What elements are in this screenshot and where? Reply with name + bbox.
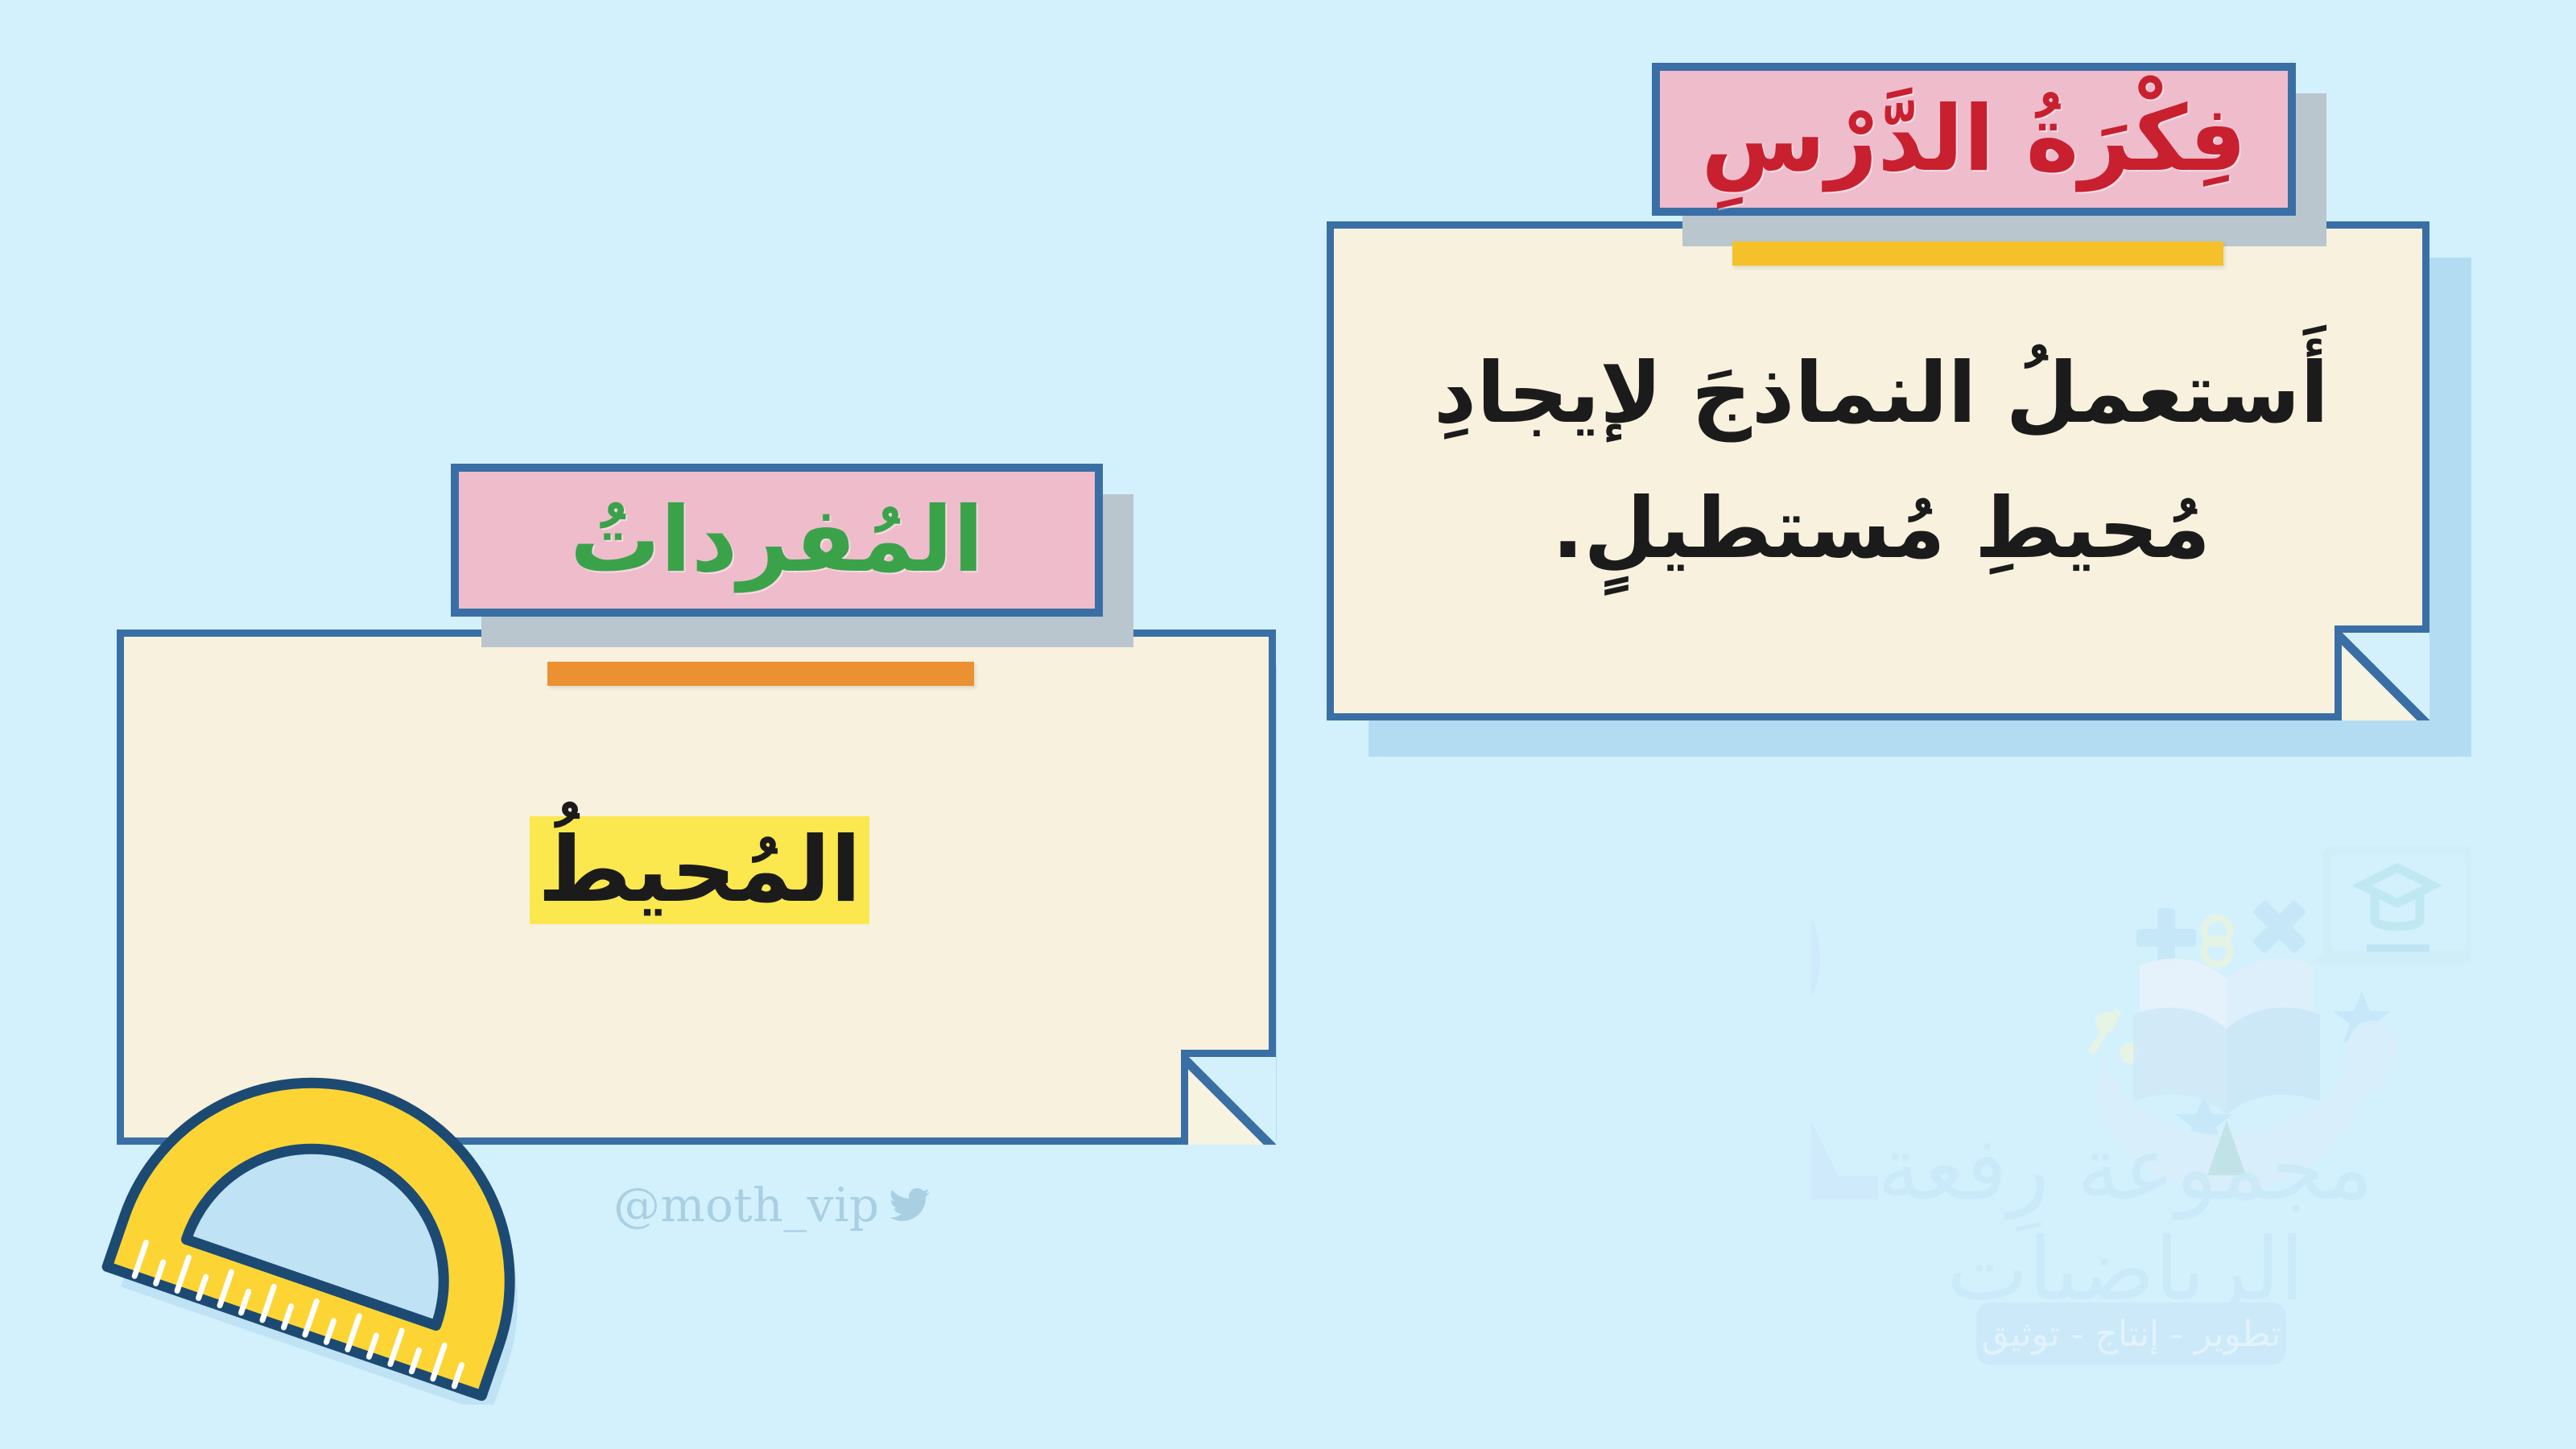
vocabulary-banner-label: المُفرداتُ (570, 495, 984, 585)
credit-handle-text: @moth_vip (613, 1178, 880, 1232)
times-icon (2237, 885, 2322, 969)
pencil-icon (2207, 1121, 2246, 1175)
lesson-idea-body: أَستعملُ النماذجَ لإيجادِ مُحيطِ مُستطيل… (1366, 325, 2396, 597)
credit-handle: @moth_vip (613, 1178, 931, 1232)
watermark-logo: R (1811, 773, 2471, 1336)
watermark-monogram-letter: R (1811, 782, 1880, 1307)
twitter-bird-icon (888, 1183, 931, 1227)
graduation-cap-icon (2362, 868, 2433, 927)
page-fold-corner (1181, 1050, 1276, 1145)
eight-symbol (2204, 918, 2230, 943)
watermark-tagline: تطوير - إنتاج - توثيق (1981, 1314, 2281, 1355)
book-icon (2133, 959, 2320, 1114)
protractor-icon (48, 1018, 612, 1405)
lesson-idea-line-2: مُحيطِ مُستطيلٍ. (1366, 460, 2396, 596)
lesson-idea-line-1: أَستعملُ النماذجَ لإيجادِ (1366, 325, 2396, 460)
vocabulary-banner: المُفرداتُ (451, 464, 1103, 617)
laptop-icon (2307, 850, 2471, 964)
hand-icon (2095, 1021, 2396, 1191)
plus-icon (2157, 908, 2175, 968)
page-fold-corner (2334, 625, 2429, 720)
lesson-idea-banner: فِكْرَةُ الدَّرْسِ (1652, 63, 2296, 216)
vocabulary-term-wrap: المُحيطُ (156, 798, 1243, 943)
lesson-idea-accent-bar (1732, 242, 2223, 266)
watermark-group-name: مجموعة رِفعة الرياضيات (1771, 1119, 2479, 1320)
watermark-tagline-pill: تطوير - إنتاج - توثيق (1976, 1302, 2286, 1365)
star-icon (2175, 1095, 2233, 1147)
lesson-idea-banner-label: فِكْرَةُ الدَّرْسِ (1701, 94, 2246, 184)
vocabulary-term: المُحيطُ (530, 816, 869, 924)
percent-icon (2087, 1008, 2140, 1063)
lesson-idea-card: أَستعملُ النماذجَ لإيجادِ مُحيطِ مُستطيل… (1327, 221, 2429, 720)
slide-canvas: R (0, 0, 2576, 1449)
vocabulary-accent-bar (547, 662, 974, 686)
